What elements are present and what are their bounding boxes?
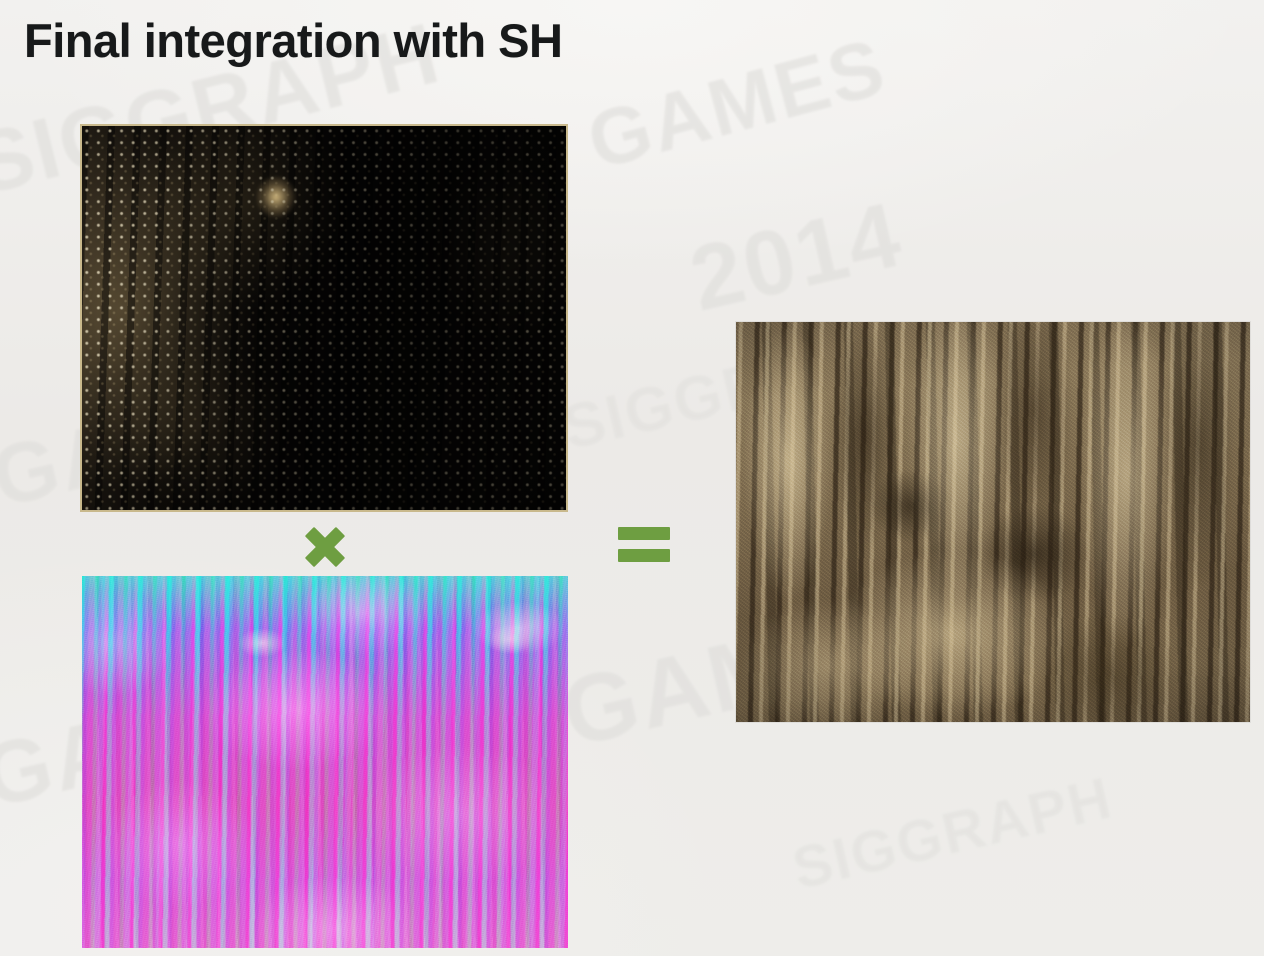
page-title: Final integration with SH [24, 14, 562, 68]
final-result-figure [736, 322, 1250, 722]
equals-stroke-bottom [618, 549, 670, 562]
sh-vignette [82, 126, 566, 510]
sh-lighting-figure [80, 124, 568, 512]
detail-grain-layer [82, 576, 568, 948]
multiply-icon [302, 524, 348, 570]
detail-map-figure [82, 576, 568, 948]
equals-stroke-top [618, 527, 670, 540]
equals-icon [618, 527, 670, 567]
result-vignette [736, 322, 1250, 722]
